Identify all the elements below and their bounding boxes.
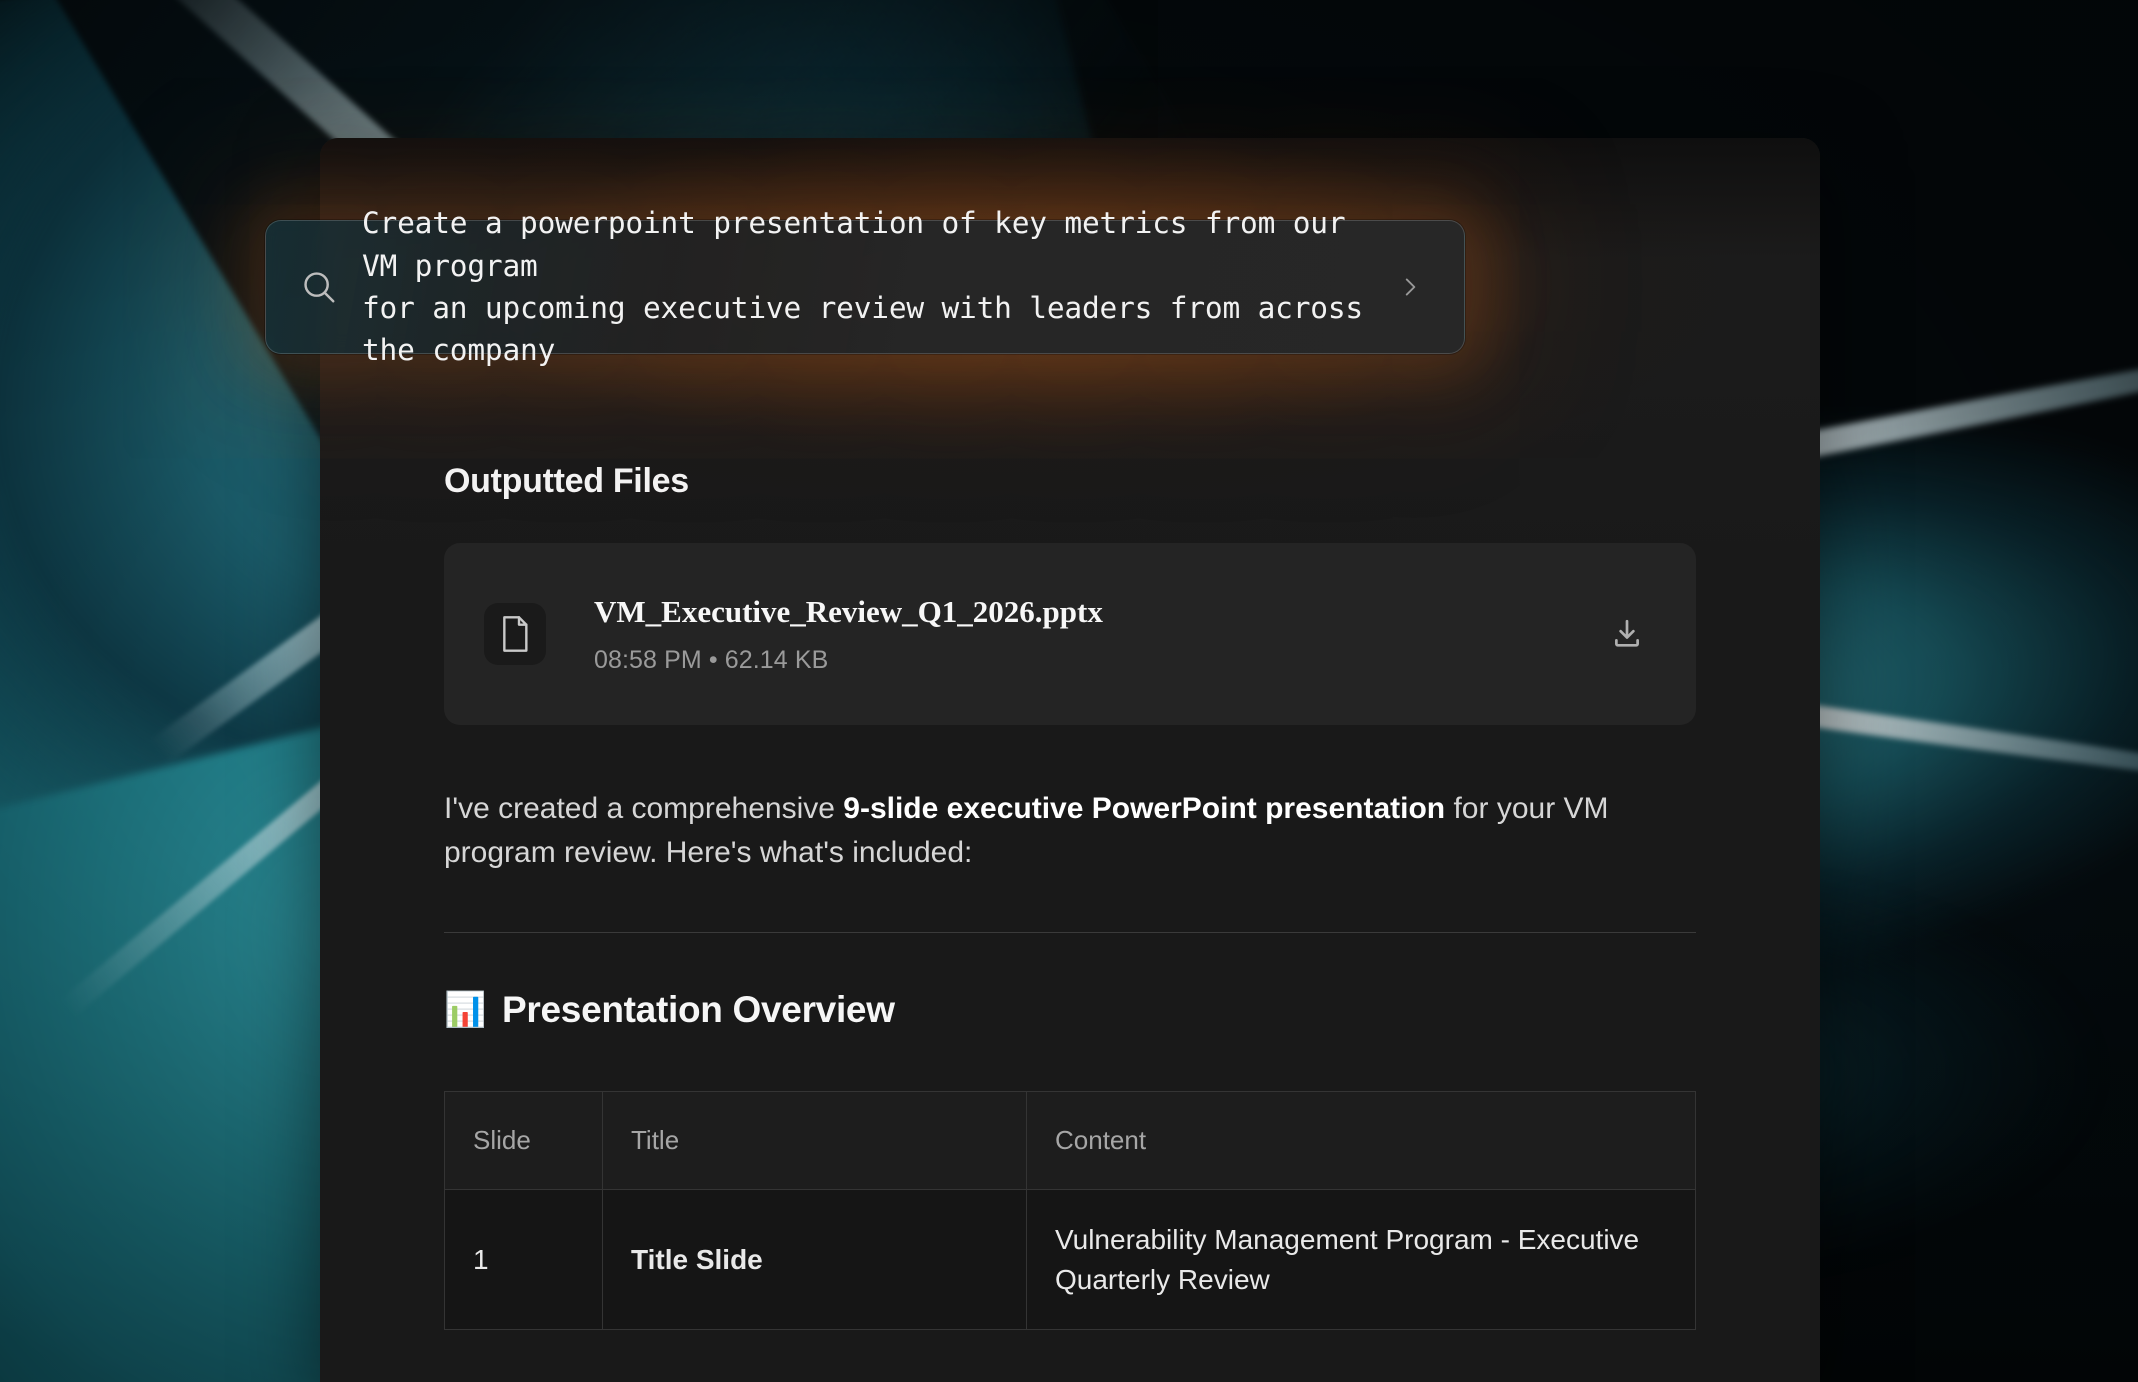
section-divider bbox=[444, 932, 1696, 933]
search-icon bbox=[266, 268, 362, 306]
bar-chart-emoji-icon: 📊 bbox=[444, 993, 486, 1027]
screen: Outputted Files VM_Executive_Review_Q1_2… bbox=[0, 0, 2138, 1382]
assistant-message: I've created a comprehensive 9-slide exe… bbox=[444, 787, 1696, 876]
download-icon[interactable] bbox=[1604, 611, 1650, 657]
search-input[interactable]: Create a powerpoint presentation of key … bbox=[362, 202, 1390, 372]
presentation-overview-title: Presentation Overview bbox=[502, 989, 895, 1031]
message-bold: 9-slide executive PowerPoint presentatio… bbox=[843, 792, 1445, 825]
cell-slide-number: 1 bbox=[445, 1189, 603, 1330]
table-header-row: Slide Title Content bbox=[445, 1091, 1696, 1189]
file-card[interactable]: VM_Executive_Review_Q1_2026.pptx 08:58 P… bbox=[444, 543, 1696, 725]
column-header-title: Title bbox=[603, 1091, 1027, 1189]
column-header-content: Content bbox=[1027, 1091, 1696, 1189]
file-timestamp-size: 08:58 PM • 62.14 KB bbox=[594, 646, 1604, 675]
cell-slide-title: Title Slide bbox=[603, 1189, 1027, 1330]
chevron-right-icon[interactable] bbox=[1390, 267, 1430, 307]
message-lead: I've created a comprehensive bbox=[444, 792, 843, 825]
outputted-files-heading: Outputted Files bbox=[444, 370, 1696, 501]
document-icon bbox=[484, 603, 546, 665]
content-area: Outputted Files VM_Executive_Review_Q1_2… bbox=[320, 370, 1820, 1330]
file-name: VM_Executive_Review_Q1_2026.pptx bbox=[594, 594, 1604, 630]
presentation-overview-heading: 📊 Presentation Overview bbox=[444, 989, 1696, 1031]
table-row: 1 Title Slide Vulnerability Management P… bbox=[445, 1189, 1696, 1330]
table-head: Slide Title Content bbox=[445, 1091, 1696, 1189]
table-body: 1 Title Slide Vulnerability Management P… bbox=[445, 1189, 1696, 1330]
panel-body: Outputted Files VM_Executive_Review_Q1_2… bbox=[320, 370, 1820, 1382]
search-bar[interactable]: Create a powerpoint presentation of key … bbox=[265, 220, 1465, 354]
cell-slide-content: Vulnerability Management Program - Execu… bbox=[1027, 1189, 1696, 1330]
column-header-slide: Slide bbox=[445, 1091, 603, 1189]
file-meta: VM_Executive_Review_Q1_2026.pptx 08:58 P… bbox=[546, 594, 1604, 675]
presentation-overview-table: Slide Title Content 1 Title Slide Vulner… bbox=[444, 1091, 1696, 1331]
